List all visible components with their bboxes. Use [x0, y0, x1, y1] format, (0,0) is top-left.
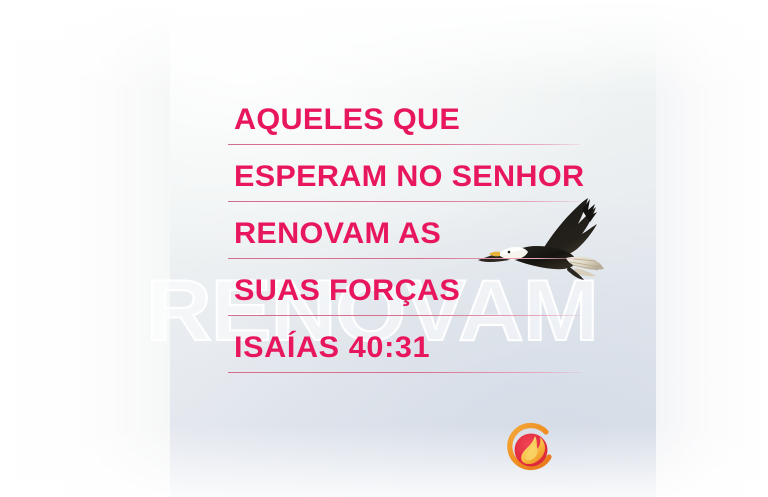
verse-reference-text: ISAÍAS 40:31 — [234, 328, 430, 368]
verse-line-2: ESPERAM NO SENHOR — [228, 157, 664, 214]
verse-line-2-rule — [228, 201, 580, 202]
verse-block: AQUELES QUE ESPERAM NO SENHOR RENOVAM AS… — [228, 100, 664, 385]
verse-line-1: AQUELES QUE — [228, 100, 664, 157]
verse-line-4-text: SUAS FORÇAS — [234, 271, 460, 311]
verse-line-2-text: ESPERAM NO SENHOR — [234, 157, 584, 197]
verse-line-1-text: AQUELES QUE — [234, 100, 460, 140]
verse-line-3-rule — [228, 258, 580, 259]
verse-line-3-text: RENOVAM AS — [234, 214, 441, 254]
verse-line-1-rule — [228, 144, 580, 145]
verse-poster: RENOVAM — [0, 0, 768, 497]
verse-reference-line: ISAÍAS 40:31 — [228, 328, 664, 385]
verse-line-4-rule — [228, 315, 580, 316]
background-bottom-fade — [0, 425, 768, 497]
verse-line-3: RENOVAM AS — [228, 214, 664, 271]
background-top-fade — [0, 0, 768, 95]
flame-circle-logo — [502, 423, 558, 479]
verse-reference-rule — [228, 372, 580, 373]
verse-line-4: SUAS FORÇAS — [228, 271, 664, 328]
